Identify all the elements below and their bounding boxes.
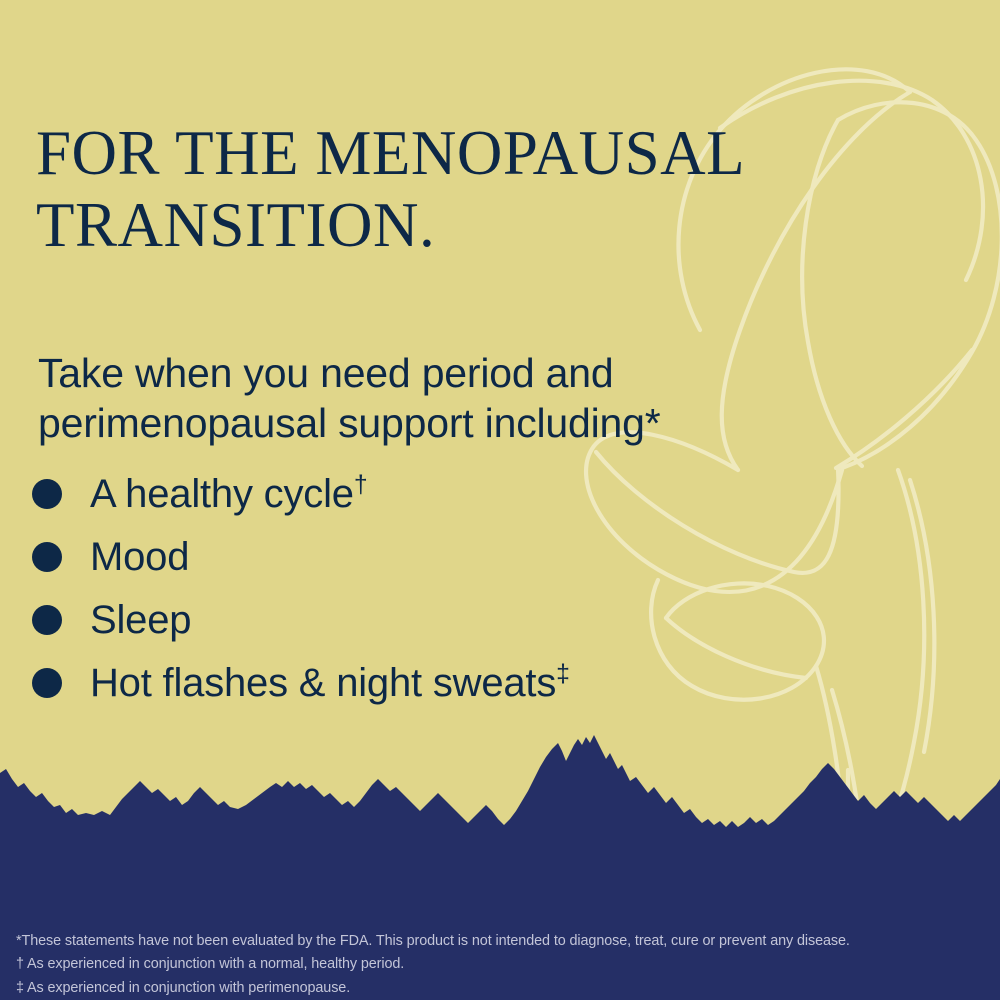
- list-item: Sleep: [32, 588, 892, 651]
- list-item: A healthy cycle†: [32, 462, 892, 525]
- lede-line-2: perimenopausal support including*: [38, 400, 660, 446]
- footnote-marker: ‡: [556, 660, 570, 687]
- footnote-line-1: *These statements have not been evaluate…: [16, 930, 991, 953]
- footnotes: *These statements have not been evaluate…: [16, 930, 991, 1000]
- bullet-dot-icon: [32, 479, 62, 509]
- bullet-label: Mood: [90, 537, 189, 577]
- bullet-label: Hot flashes & night sweats‡: [90, 663, 570, 703]
- benefit-list: A healthy cycle† Mood Sleep Hot flashes …: [32, 462, 892, 714]
- footnote-marker: †: [354, 471, 368, 498]
- footnote-line-3: ‡ As experienced in conjunction with per…: [16, 977, 991, 1000]
- bullet-dot-icon: [32, 668, 62, 698]
- bullet-dot-icon: [32, 605, 62, 635]
- bullet-label: Sleep: [90, 600, 191, 640]
- bullet-dot-icon: [32, 542, 62, 572]
- bullet-label: A healthy cycle†: [90, 474, 367, 514]
- footnote-line-2: † As experienced in conjunction with a n…: [16, 953, 991, 976]
- page-title: FOR THE MENOPAUSAL TRANSITION.: [36, 118, 836, 262]
- poster-canvas: FOR THE MENOPAUSAL TRANSITION. Take when…: [0, 0, 1000, 1000]
- lede-line-1: Take when you need period and: [38, 350, 613, 396]
- list-item: Hot flashes & night sweats‡: [32, 651, 892, 714]
- lede-paragraph: Take when you need period and perimenopa…: [38, 348, 868, 449]
- headline-line-1: FOR THE MENOPAUSAL: [36, 118, 745, 188]
- list-item: Mood: [32, 525, 892, 588]
- headline-line-2: TRANSITION.: [36, 190, 435, 260]
